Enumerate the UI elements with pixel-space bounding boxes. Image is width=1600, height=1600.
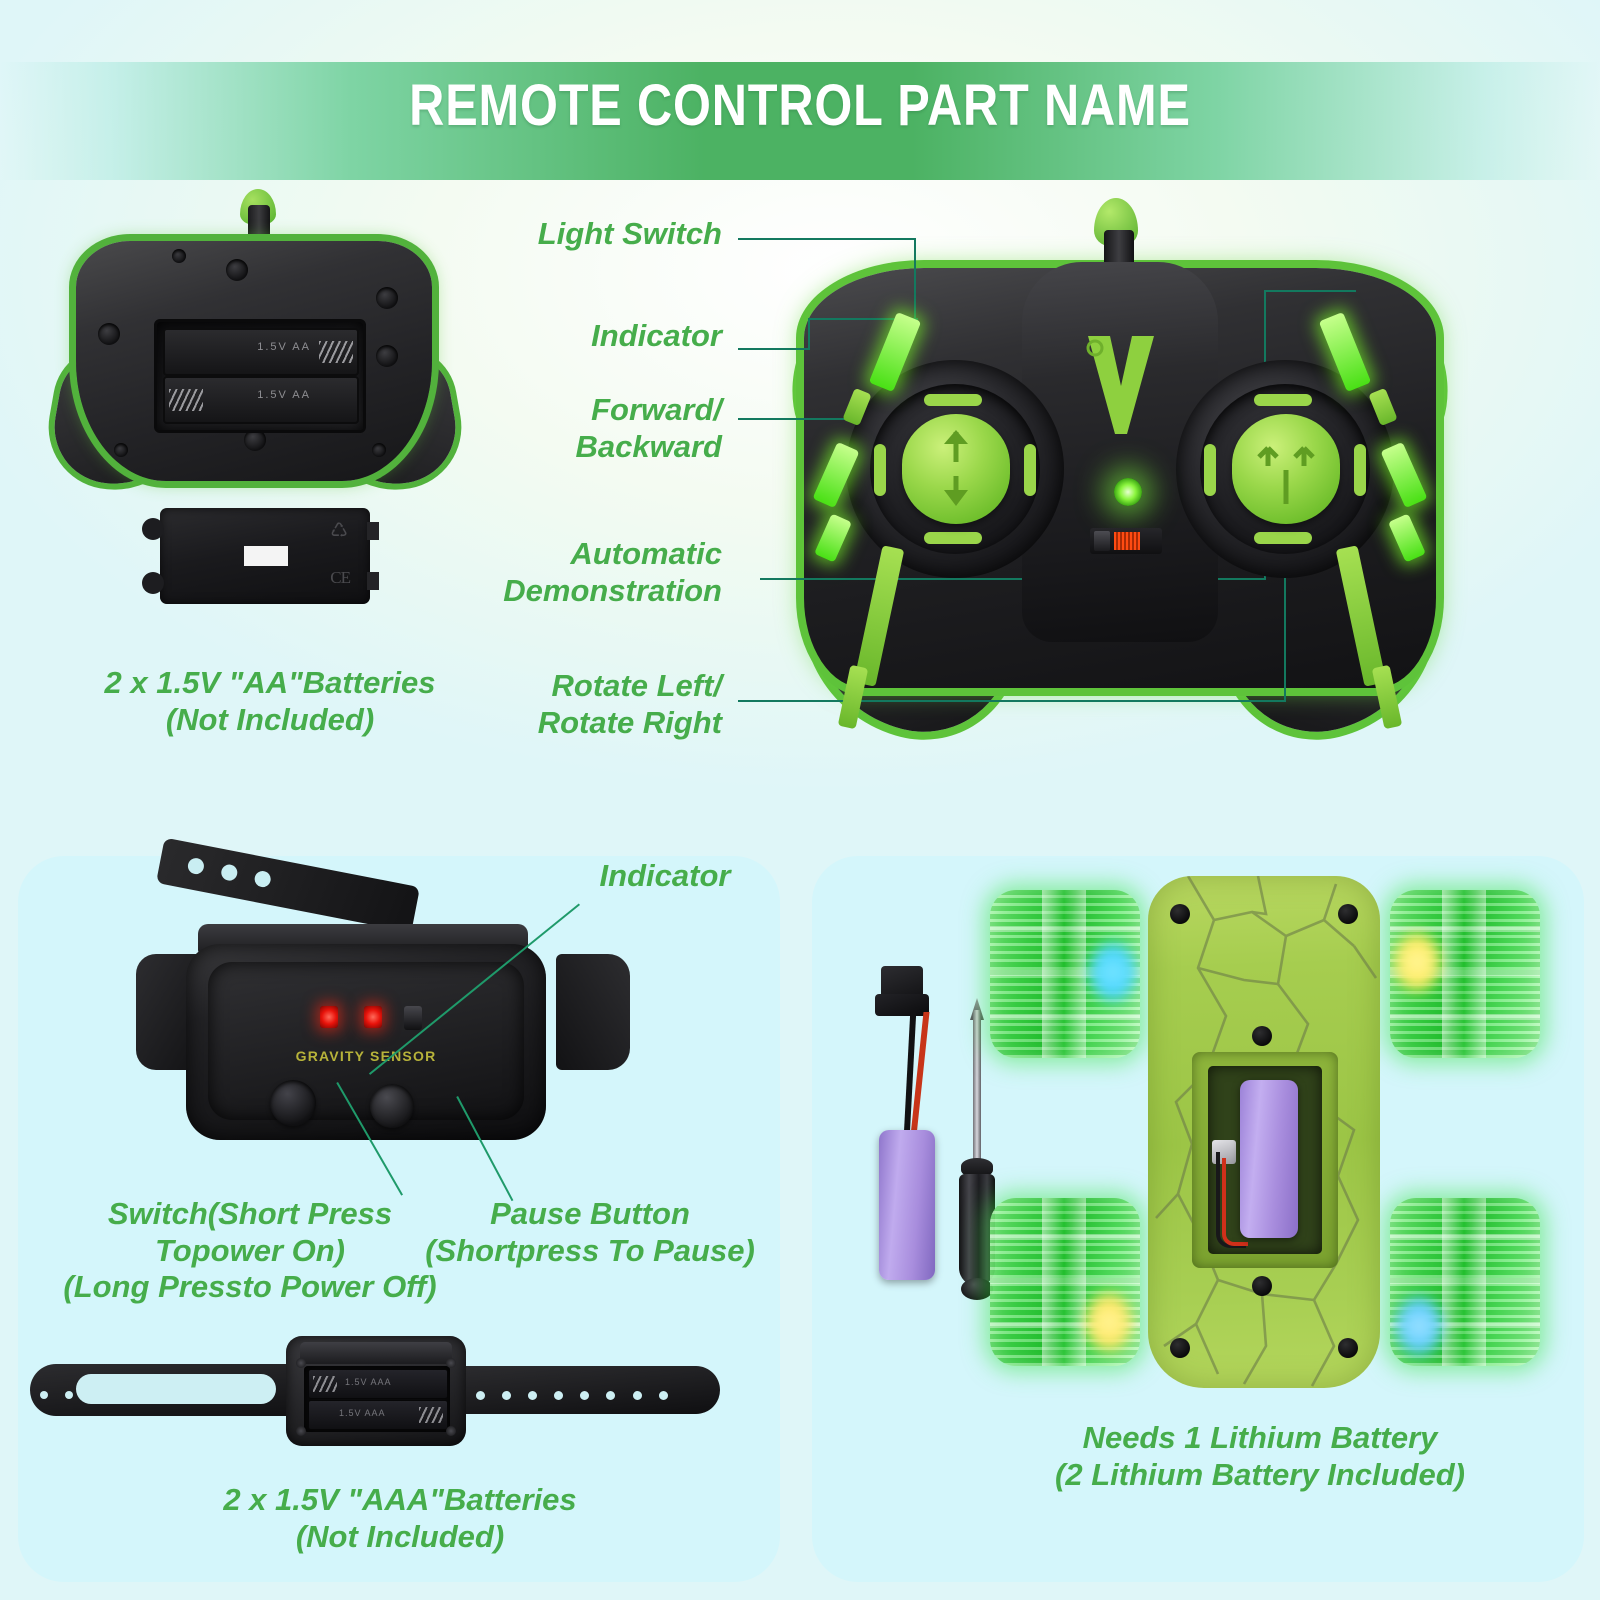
wheel-front-right [1390, 890, 1540, 1058]
leader-line [738, 348, 810, 350]
switch-red-marker [1114, 532, 1140, 550]
cover-clip-tab [367, 572, 379, 590]
chevron-down-icon [924, 532, 982, 544]
label-automatic-demonstration: Automatic Demonstration [380, 536, 722, 609]
watch-flat-view: 1.5V AAA 1.5V AAA [30, 1330, 720, 1450]
chevron-left-icon [1204, 444, 1216, 496]
wheel-led-glow [1086, 1294, 1132, 1350]
indicator-led-left [320, 1006, 338, 1028]
power-switch[interactable] [1090, 528, 1162, 554]
switch-knob[interactable] [1094, 531, 1110, 551]
page-title: REMOTE CONTROL PART NAME [128, 72, 1472, 139]
label-watch-switch: Switch(Short Press Topower On) (Long Pre… [40, 1196, 460, 1306]
battery-slot-marking: 1.5V AA [257, 341, 311, 353]
label-forward-backward: Forward/ Backward [410, 392, 722, 465]
cover-hinge-tab [142, 518, 164, 540]
leader-line [1264, 290, 1356, 292]
lithium-cell [879, 1130, 935, 1280]
battery-spring-icon [313, 1376, 337, 1392]
label-light-switch: Light Switch [430, 216, 722, 253]
chevron-left-icon [874, 444, 886, 496]
wheel-led-glow [1396, 1298, 1442, 1354]
car-chassis [1148, 876, 1380, 1388]
chevron-up-icon [1254, 394, 1312, 406]
wheel-rear-right [1390, 1198, 1540, 1366]
screwdriver-shaft [973, 1010, 981, 1160]
v-logo-icon [1082, 330, 1160, 440]
screw-icon [296, 1358, 306, 1368]
strap-hole [220, 863, 239, 882]
infographic-page: REMOTE CONTROL PART NAME 1.5V AA 1. [0, 0, 1600, 1600]
watch-strap-open [156, 838, 420, 933]
battery-slot: 1.5V AA [163, 328, 359, 376]
recycle-icon: ♺ [330, 518, 348, 542]
stick-knob[interactable] [902, 414, 1010, 524]
rotate-left-right-stick[interactable] [1176, 360, 1394, 578]
screw-icon [376, 345, 398, 367]
remote-back-view: 1.5V AA 1.5V AA [60, 205, 450, 505]
pause-button[interactable] [370, 1084, 414, 1128]
label-indicator: Indicator [430, 318, 722, 355]
battery-bay-inner [1208, 1066, 1322, 1254]
screw-icon [172, 249, 186, 263]
strap-holes-group [476, 1385, 668, 1404]
screw-icon [372, 443, 386, 457]
label-watch-indicator: Indicator [515, 858, 815, 895]
screw-icon [1252, 1026, 1272, 1046]
leader-line [738, 700, 1286, 702]
battery-slot: 1.5V AA [163, 376, 359, 424]
remote-front-view [790, 198, 1450, 763]
screw-icon [446, 1358, 456, 1368]
battery-slot-marking: 1.5V AAA [345, 1377, 392, 1387]
stick-knob[interactable] [1232, 414, 1340, 524]
screw-icon [226, 259, 248, 281]
battery-slot: 1.5V AAA [308, 1400, 448, 1430]
screw-icon [1252, 1276, 1272, 1296]
screw-icon [1338, 904, 1358, 924]
aaa-battery-caption: 2 x 1.5V "AAA"Batteries (Not Included) [150, 1482, 650, 1555]
power-switch-button[interactable] [270, 1080, 316, 1126]
screw-icon [446, 1426, 456, 1436]
wheel-led-glow [1090, 944, 1136, 1000]
battery-cover: ♺ CE [160, 508, 370, 604]
watch-band-right-flat [450, 1366, 720, 1414]
wheel-rim [1042, 1198, 1086, 1366]
watch-case-flat: 1.5V AAA 1.5V AAA [286, 1336, 466, 1446]
indicator-led-right [364, 1006, 382, 1028]
wheel-rim [1042, 890, 1086, 1058]
ce-mark-icon: CE [330, 568, 350, 588]
screwdriver-end-cap [961, 1278, 993, 1300]
screw-icon [296, 1426, 306, 1436]
forward-backward-stick[interactable] [846, 360, 1064, 578]
screw-icon [1170, 1338, 1190, 1358]
remote-back-shell: 1.5V AA 1.5V AA [76, 241, 432, 481]
wheel-rim [1442, 890, 1486, 1058]
leader-line [738, 238, 916, 240]
label-watch-pause-button: Pause Button (Shortpress To Pause) [400, 1196, 780, 1269]
wheel-front-left [990, 890, 1140, 1058]
strap-hole [187, 857, 206, 876]
wheel-led-glow [1394, 934, 1440, 990]
wheel-rear-left [990, 1198, 1140, 1366]
watch-band-right [556, 954, 630, 1070]
wheel-rim [1442, 1198, 1486, 1366]
band-cutout [76, 1374, 276, 1404]
screw-icon [1338, 1338, 1358, 1358]
aa-battery-compartment: 1.5V AA 1.5V AA [154, 319, 366, 433]
lithium-battery-accessory [855, 960, 955, 1290]
strap-holes-group [40, 1384, 98, 1403]
gravity-sensor-watch: GRAVITY SENSOR [140, 862, 620, 1162]
screw-icon [1170, 904, 1190, 924]
stunt-car-underside [990, 868, 1540, 1398]
cover-hinge-tab [142, 572, 164, 594]
chevron-right-icon [1354, 444, 1366, 496]
screw-icon [376, 287, 398, 309]
gravity-sensor-marking: GRAVITY SENSOR [208, 1048, 524, 1064]
ir-window-icon [404, 1006, 422, 1030]
screw-icon [98, 323, 120, 345]
cover-clip-tab [367, 522, 379, 540]
chevron-up-icon [924, 394, 982, 406]
leader-line [808, 318, 810, 350]
label-rotate-left-right: Rotate Left/ Rotate Right [380, 668, 722, 741]
battery-slot-marking: 1.5V AAA [339, 1408, 386, 1418]
battery-slot: 1.5V AAA [308, 1369, 448, 1399]
chevron-down-icon [1254, 532, 1312, 544]
installed-lithium-battery [1240, 1080, 1298, 1238]
leader-line [914, 238, 916, 322]
chevron-right-icon [1024, 444, 1036, 496]
power-indicator-led [1114, 478, 1142, 506]
battery-spring-icon [169, 389, 203, 411]
battery-lid [300, 1342, 452, 1364]
aaa-battery-compartment: 1.5V AAA 1.5V AAA [304, 1366, 450, 1432]
battery-slot-marking: 1.5V AA [257, 389, 311, 401]
screw-icon [114, 443, 128, 457]
car-battery-caption: Needs 1 Lithium Battery (2 Lithium Batte… [1000, 1420, 1520, 1493]
battery-bay [1192, 1052, 1338, 1268]
watch-band-left-flat [30, 1364, 330, 1416]
battery-spring-icon [319, 341, 353, 363]
cover-window [244, 546, 288, 566]
strap-hole [253, 870, 272, 889]
battery-spring-icon [419, 1407, 443, 1423]
